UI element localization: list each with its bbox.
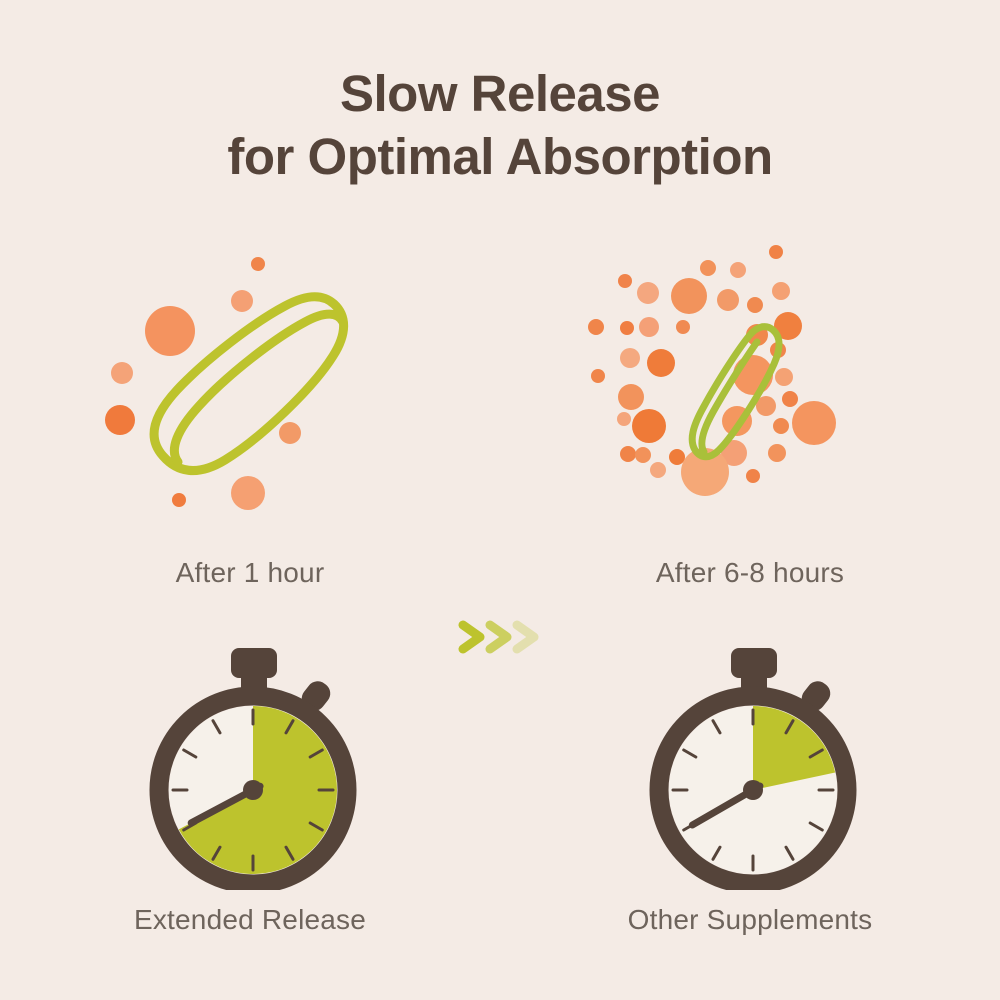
particle-dot-icon <box>637 282 659 304</box>
particle-dot-icon <box>620 348 640 368</box>
particle-dot-icon <box>671 278 707 314</box>
particle-dot-icon <box>782 391 798 407</box>
title-line-2: for Optimal Absorption <box>0 125 1000 188</box>
particle-dot-icon <box>251 257 265 271</box>
particle-dot-icon <box>231 476 265 510</box>
pill-tablet-icon-intact <box>85 238 415 538</box>
particle-dot-icon <box>792 401 836 445</box>
particle-dot-icon <box>650 462 666 478</box>
stage-left-caption: After 1 hour <box>35 556 465 590</box>
particle-dot-icon <box>172 493 186 507</box>
particle-dot-icon <box>769 245 783 259</box>
stage-right-illustration <box>585 238 915 538</box>
particle-dot-icon <box>639 317 659 337</box>
particle-dot-icon <box>620 446 636 462</box>
title-line-1: Slow Release <box>0 62 1000 125</box>
particle-dot-icon <box>620 321 634 335</box>
comparison-right-caption: Other Supplements <box>535 903 965 937</box>
particle-dot-icon <box>279 422 301 444</box>
stopwatch-icon <box>128 645 378 890</box>
particle-dot-icon <box>145 306 195 356</box>
stopwatch-comparison-row <box>0 645 1000 895</box>
stopwatch-other-supplements <box>628 645 878 890</box>
particle-dot-icon <box>231 290 253 312</box>
pill-outline-right <box>692 327 779 457</box>
particle-dot-icon <box>775 368 793 386</box>
particle-dot-icon <box>618 384 644 410</box>
stopwatch-hand-pivot <box>243 780 263 800</box>
particle-dot-icon <box>588 319 604 335</box>
particle-dot-icon <box>635 447 651 463</box>
stage-left-illustration <box>85 238 415 538</box>
stopwatch-extended-release <box>128 645 378 890</box>
particle-dot-icon <box>746 469 760 483</box>
infographic-canvas: Slow Release for Optimal Absorption <box>0 0 1000 1000</box>
particle-dot-icon <box>647 349 675 377</box>
particle-dot-icon <box>632 409 666 443</box>
comparison-left-caption: Extended Release <box>35 903 465 937</box>
pill-tablet-icon-dissolved <box>585 238 915 538</box>
particle-dot-icon <box>105 405 135 435</box>
particle-dot-icon <box>747 297 763 313</box>
dissolution-stage-row <box>0 238 1000 598</box>
stopwatch-hand-pivot <box>743 780 763 800</box>
particle-dot-icon <box>773 418 789 434</box>
particle-dot-icon <box>618 274 632 288</box>
particle-dot-icon <box>617 412 631 426</box>
particle-dot-icon <box>676 320 690 334</box>
particle-dot-icon <box>669 449 685 465</box>
particle-dot-icon <box>768 444 786 462</box>
page-title: Slow Release for Optimal Absorption <box>0 62 1000 188</box>
particle-dot-icon <box>772 282 790 300</box>
stage-right-caption: After 6-8 hours <box>535 556 965 590</box>
particle-dot-icon <box>717 289 739 311</box>
stopwatch-icon <box>628 645 878 890</box>
particle-dot-icon <box>591 369 605 383</box>
particle-dot-icon <box>700 260 716 276</box>
particle-dot-icon <box>730 262 746 278</box>
particle-dot-icon <box>111 362 133 384</box>
